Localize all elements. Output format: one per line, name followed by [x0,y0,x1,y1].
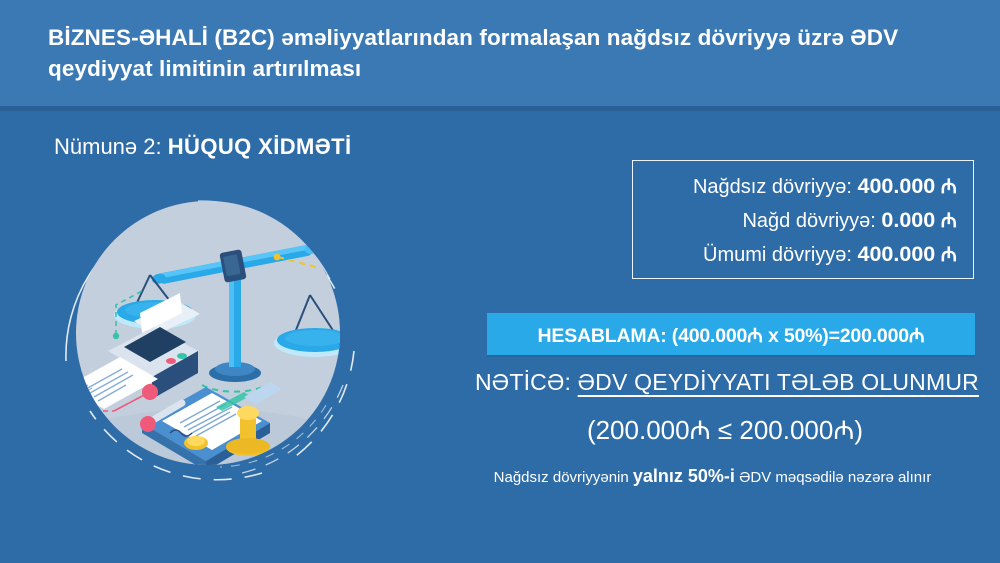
turnover-label-total: Ümumi dövriyyə: [703,244,852,266]
turnover-label-cash: Nağd dövriyyə: [742,210,875,232]
page-title: BİZNES-ƏHALİ (B2C) əməliyyatlarından for… [48,22,948,84]
footnote: Nağdsız dövriyyənin yalnız 50%-i ƏDV məq… [440,466,985,487]
result-line: NƏTİCƏ: ƏDV QEYDİYYATI TƏLƏB OLUNMUR [475,369,975,396]
footnote-after: ƏDV məqsədilə nəzərə alınır [735,469,931,486]
turnover-row-cashless: Nağdsız dövriyyə: 400.000 ₼ [693,170,957,204]
calculation-text: HESABLAMA: (400.000₼ x 50%)=200.000₼ [538,321,925,348]
footnote-before: Nağdsız dövriyyənin [494,469,633,486]
example-label: Nümunə 2: [54,134,162,159]
header-divider [0,106,1000,111]
turnover-row-total: Ümumi dövriyyə: 400.000 ₼ [693,238,957,272]
turnover-amount-cashless: 400.000 [858,174,936,198]
turnover-figures-list: Nağdsız dövriyyə: 400.000 ₼ Nağd dövriyy… [693,170,957,272]
turnover-row-cash: Nağd dövriyyə: 0.000 ₼ [693,204,957,238]
example-value: HÜQUQ XİDMƏTİ [168,134,352,159]
turnover-amount-total: 400.000 [858,242,936,266]
turnover-figures-box: Nağdsız dövriyyə: 400.000 ₼ Nağd dövriyy… [632,160,974,279]
turnover-amount-cash: 0.000 [881,208,935,232]
turnover-label-cashless: Nağdsız dövriyyə: [693,176,852,198]
footnote-highlight: yalnız 50%-i [633,466,735,486]
result-prefix: NƏTİCƏ: [475,369,578,395]
legal-services-illustration [30,175,410,495]
result-statement: ƏDV QEYDİYYATI TƏLƏB OLUNMUR [578,369,979,395]
example-subheading: Nümunə 2: HÜQUQ XİDMƏTİ [54,134,351,160]
calculation-bar: HESABLAMA: (400.000₼ x 50%)=200.000₼ [487,313,975,355]
currency-symbol-manat: ₼ [941,210,957,232]
currency-symbol-manat: ₼ [941,244,957,266]
result-comparison: (200.000₼ ≤ 200.000₼) [475,411,975,447]
currency-symbol-manat: ₼ [941,176,957,198]
slide-root: BİZNES-ƏHALİ (B2C) əməliyyatlarından for… [0,0,1000,563]
